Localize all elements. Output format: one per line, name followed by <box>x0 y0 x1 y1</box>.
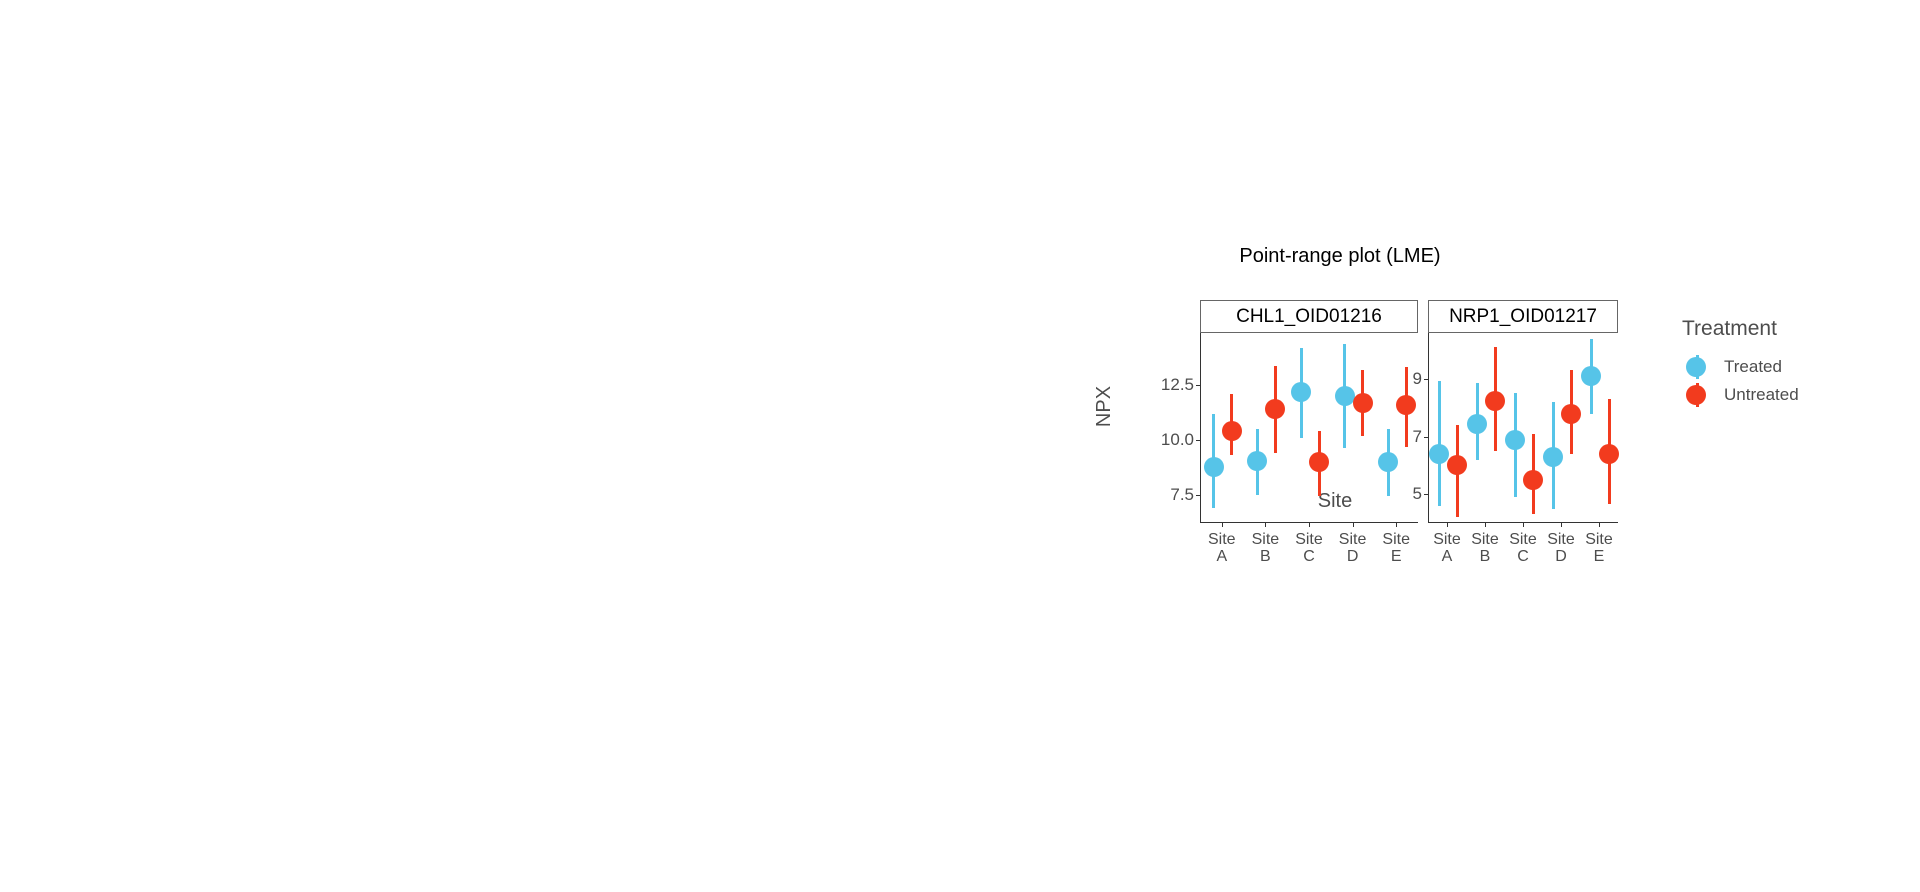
x-axis-tick-mark <box>1353 523 1354 527</box>
facet-strip-label: CHL1_OID01216 <box>1236 306 1382 328</box>
y-axis-tick-label: 7 <box>1378 427 1422 447</box>
facet-panel: NRP1_OID01217 <box>1428 300 1618 523</box>
data-point <box>1309 452 1329 472</box>
x-axis-tick-mark <box>1561 523 1562 527</box>
x-axis-tick-mark <box>1447 523 1448 527</box>
data-point <box>1291 382 1311 402</box>
y-axis-tick-label: 5 <box>1378 484 1422 504</box>
legend: Treatment TreatedUntreated <box>1682 317 1882 409</box>
data-point <box>1543 447 1563 467</box>
data-point <box>1561 404 1581 424</box>
y-axis-tick-label: 9 <box>1378 369 1422 389</box>
data-point <box>1353 393 1373 413</box>
x-axis-tick-mark <box>1265 523 1266 527</box>
legend-key-dot <box>1686 357 1706 377</box>
data-point <box>1396 395 1416 415</box>
chart-title: Point-range plot (LME) <box>1090 245 1590 268</box>
legend-key-icon <box>1682 381 1712 409</box>
y-axis-tick-label: 10.0 <box>1150 430 1194 450</box>
x-axis-tick-mark <box>1485 523 1486 527</box>
x-axis-tick-label: Site E <box>1373 531 1419 565</box>
data-point <box>1429 444 1449 464</box>
x-axis-tick-label: Site B <box>1242 531 1288 565</box>
facet-strip-label: NRP1_OID01217 <box>1449 306 1597 328</box>
data-point <box>1581 366 1601 386</box>
x-axis-tick-mark <box>1309 523 1310 527</box>
data-point <box>1265 399 1285 419</box>
data-point <box>1505 430 1525 450</box>
data-point <box>1222 421 1242 441</box>
data-point <box>1447 455 1467 475</box>
x-axis-tick-label: Site D <box>1330 531 1376 565</box>
y-axis-tick-label: 12.5 <box>1150 375 1194 395</box>
point-range-figure: Point-range plot (LME) NPX Site 7.510.01… <box>1090 245 1650 530</box>
legend-item[interactable]: Treated <box>1682 353 1882 381</box>
legend-item[interactable]: Untreated <box>1682 381 1882 409</box>
legend-item-label: Treated <box>1724 357 1782 377</box>
x-axis-tick-mark <box>1599 523 1600 527</box>
x-axis-tick-mark <box>1222 523 1223 527</box>
legend-item-label: Untreated <box>1724 385 1799 405</box>
data-point <box>1204 457 1224 477</box>
facet-strip: NRP1_OID01217 <box>1428 300 1618 333</box>
data-point <box>1523 470 1543 490</box>
plot-region <box>1428 333 1618 523</box>
x-axis-tick-mark <box>1523 523 1524 527</box>
x-axis-tick-label: Site E <box>1576 531 1622 565</box>
x-axis-tick-label: Site A <box>1199 531 1245 565</box>
data-point <box>1485 391 1505 411</box>
legend-key-icon <box>1682 353 1712 381</box>
y-axis-title: NPX <box>1093 386 1116 427</box>
facet-strip: CHL1_OID01216 <box>1200 300 1418 333</box>
x-axis-tick-label: Site C <box>1286 531 1332 565</box>
y-axis-tick-label: 7.5 <box>1150 485 1194 505</box>
x-axis-tick-mark <box>1396 523 1397 527</box>
data-point <box>1599 444 1619 464</box>
data-point <box>1378 452 1398 472</box>
legend-key-dot <box>1686 385 1706 405</box>
data-point <box>1247 451 1267 471</box>
legend-title: Treatment <box>1682 317 1882 341</box>
data-point <box>1335 386 1355 406</box>
legend-entries: TreatedUntreated <box>1682 353 1882 409</box>
data-point <box>1467 414 1487 434</box>
